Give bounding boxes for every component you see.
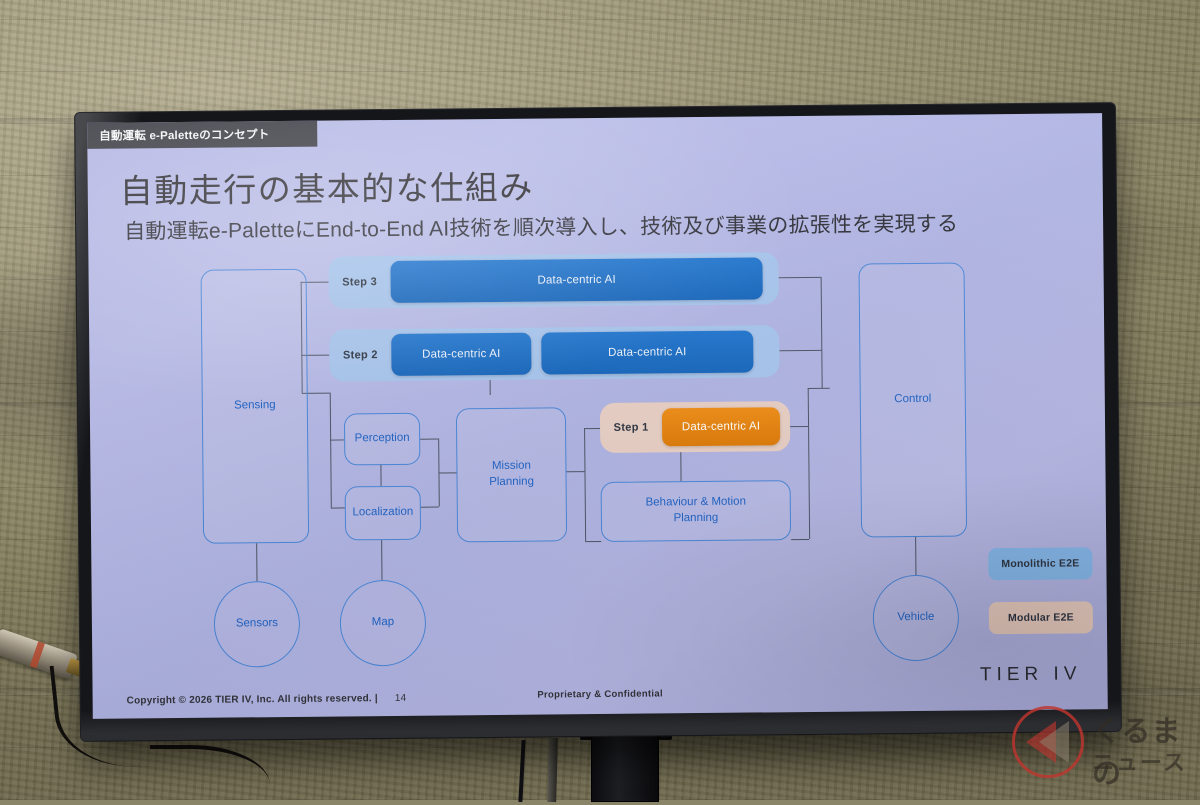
vehicle-label: Vehicle xyxy=(897,610,934,626)
presentation-monitor: 自動運転 e-Paletteのコンセプト 自動走行の基本的な仕組み 自動運転e-… xyxy=(75,103,1121,741)
connector xyxy=(256,543,258,581)
step-2-band[interactable]: Step 2 Data-centric AI Data-centric AI xyxy=(329,325,779,381)
control-label: Control xyxy=(894,392,931,408)
connector xyxy=(790,426,808,427)
legend-monolithic-label: Monolithic E2E xyxy=(1001,557,1079,570)
perception-label: Perception xyxy=(355,431,410,447)
sensing-block[interactable]: Sensing xyxy=(201,269,310,544)
slide-section-tab-label: 自動運転 e-Paletteのコンセプト xyxy=(87,126,269,144)
watermark: くるまの ニュース xyxy=(1012,702,1198,798)
step-2-label: Step 2 xyxy=(329,349,391,362)
step-1-data-centric-ai-box[interactable]: Data-centric AI xyxy=(662,407,780,446)
connector xyxy=(821,277,823,388)
connector xyxy=(330,439,344,440)
page-title: 自動走行の基本的な仕組み xyxy=(120,161,534,213)
connector xyxy=(330,393,332,508)
step-3-label: Step 3 xyxy=(329,276,391,289)
mission-planning-label-line-1: Mission xyxy=(492,459,531,475)
localization-block[interactable]: Localization xyxy=(345,486,422,541)
step-2-data-centric-ai-box-right[interactable]: Data-centric AI xyxy=(541,331,753,375)
connector xyxy=(808,388,830,390)
legend-modular-label: Modular E2E xyxy=(1008,611,1074,624)
monitor-stand-neck xyxy=(592,735,658,801)
connector xyxy=(380,464,382,486)
mission-planning-block[interactable]: Mission Planning xyxy=(456,407,567,542)
connector xyxy=(915,537,917,575)
step-3-box-label: Data-centric AI xyxy=(537,274,616,287)
tier-iv-logo: TIER IV xyxy=(980,663,1082,686)
step-2-box-left-label: Data-centric AI xyxy=(422,348,501,361)
step-2-box-right-label: Data-centric AI xyxy=(608,346,687,359)
behaviour-motion-label-line-2: Planning xyxy=(673,511,718,527)
connector xyxy=(808,388,811,539)
connector xyxy=(331,507,345,508)
connector xyxy=(381,540,383,580)
sensors-node[interactable]: Sensors xyxy=(214,581,301,668)
localization-label: Localization xyxy=(352,505,413,521)
slide-section-tab: 自動運転 e-Paletteのコンセプト xyxy=(87,121,317,149)
behaviour-motion-planning-block[interactable]: Behaviour & Motion Planning xyxy=(601,480,792,542)
mission-planning-label-line-2: Planning xyxy=(489,475,534,491)
sensing-label: Sensing xyxy=(234,398,276,414)
connector xyxy=(779,350,821,352)
connector xyxy=(791,539,809,540)
vehicle-node[interactable]: Vehicle xyxy=(872,575,959,662)
connector xyxy=(584,428,600,429)
connector xyxy=(584,428,586,541)
sensors-label: Sensors xyxy=(236,616,278,632)
step-3-band[interactable]: Step 3 Data-centric AI xyxy=(328,252,778,308)
connector xyxy=(566,471,584,472)
connector xyxy=(585,541,601,542)
watermark-chevron-shadow-icon xyxy=(1039,721,1069,763)
legend-modular-e2e[interactable]: Modular E2E xyxy=(989,601,1093,634)
watermark-text-line-2: ニュース xyxy=(1092,745,1187,777)
connector xyxy=(779,277,821,279)
page-subtitle: 自動運転e-PaletteにEnd-to-End AI技術を順次導入し、技術及び… xyxy=(124,208,958,246)
architecture-diagram: Sensing Control Step 3 Data-centric AI S… xyxy=(89,261,1108,691)
monitor-screen: 自動運転 e-Paletteのコンセプト 自動走行の基本的な仕組み 自動運転e-… xyxy=(87,113,1108,719)
perception-block[interactable]: Perception xyxy=(344,413,420,466)
connector xyxy=(420,439,438,440)
connector xyxy=(438,472,456,473)
monitor-signal-cable xyxy=(547,738,558,802)
control-block[interactable]: Control xyxy=(858,262,967,537)
step-1-band[interactable]: Step 1 Data-centric AI xyxy=(600,401,790,453)
presentation-slide: 自動運転 e-Paletteのコンセプト 自動走行の基本的な仕組み 自動運転e-… xyxy=(87,113,1108,719)
map-label: Map xyxy=(372,615,395,631)
map-node[interactable]: Map xyxy=(340,580,427,667)
step-1-box-label: Data-centric AI xyxy=(682,420,761,433)
step-3-data-centric-ai-box[interactable]: Data-centric AI xyxy=(390,257,762,303)
behaviour-motion-label-line-1: Behaviour & Motion xyxy=(646,495,747,511)
step-2-data-centric-ai-box-left[interactable]: Data-centric AI xyxy=(391,333,531,376)
legend-monolithic-e2e[interactable]: Monolithic E2E xyxy=(988,547,1092,580)
connector xyxy=(421,507,439,508)
step-1-label: Step 1 xyxy=(600,421,662,434)
connector xyxy=(680,451,682,481)
